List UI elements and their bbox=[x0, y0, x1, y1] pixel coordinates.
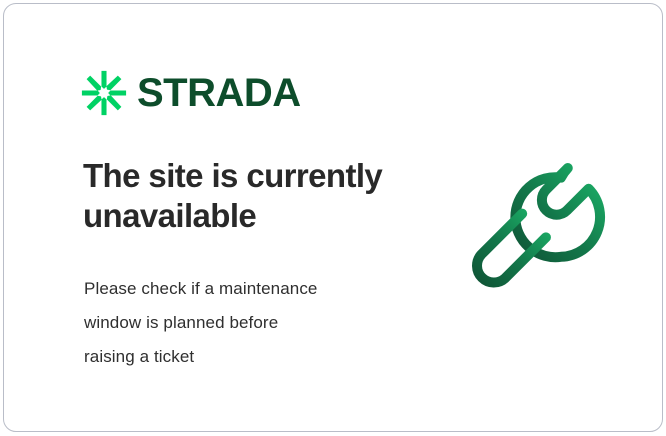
wrench-icon bbox=[459, 156, 619, 316]
error-page: STRADA The site is currently unavailable… bbox=[0, 0, 666, 436]
maintenance-card: STRADA The site is currently unavailable… bbox=[3, 3, 663, 432]
brand-lockup: STRADA bbox=[81, 70, 301, 116]
brand-wordmark: STRADA bbox=[137, 73, 301, 113]
page-title: The site is currently unavailable bbox=[83, 156, 423, 237]
page-title-line-2: unavailable bbox=[83, 196, 423, 236]
strada-asterisk-icon bbox=[81, 70, 127, 116]
page-description-line-2: window is planned before bbox=[84, 306, 414, 340]
page-description: Please check if a maintenance window is … bbox=[84, 272, 414, 374]
page-title-line-1: The site is currently bbox=[83, 157, 382, 194]
page-description-line-3: raising a ticket bbox=[84, 340, 414, 374]
page-description-line-1: Please check if a maintenance bbox=[84, 272, 414, 306]
